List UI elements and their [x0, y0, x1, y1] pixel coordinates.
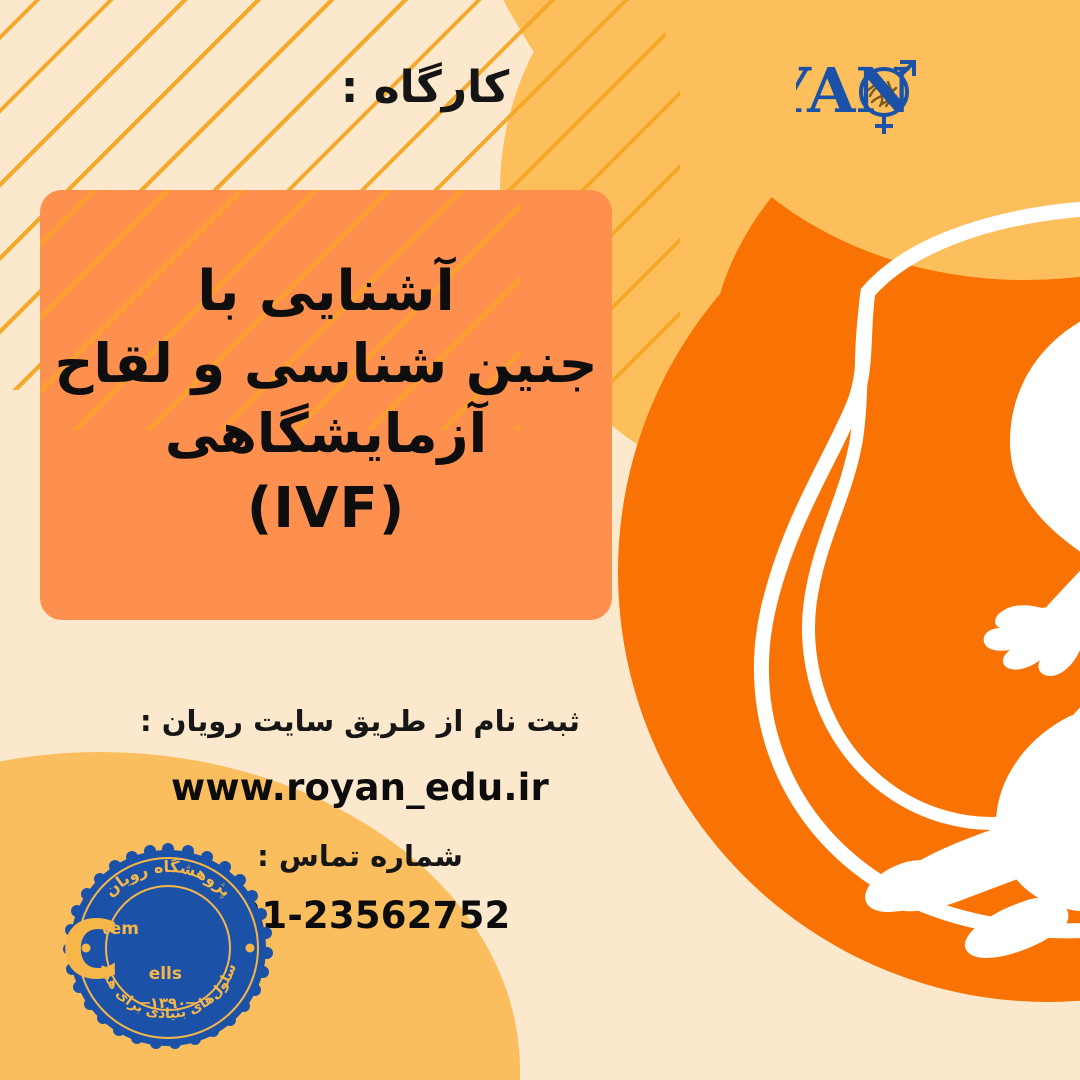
poster-canvas: کارگاه : R YAN [0, 0, 1080, 1080]
stem-cells-seal-logo: پژوهشگاه رویان سلول‌های بنیادی برای همه … [62, 842, 274, 1054]
seal-stem-text: tem [102, 919, 139, 939]
seal-initials: SC [62, 904, 120, 997]
title-line-3: آزمایشگاهی [54, 399, 597, 469]
svg-text:YAN: YAN [796, 54, 912, 127]
website-url[interactable]: www.royan_edu.ir [100, 766, 620, 809]
workshop-title-lines: آشنایی با جنین شناسی و لقاح آزمایشگاهی (… [54, 256, 597, 546]
seal-cells-text: ells [149, 964, 182, 984]
title-line-ivf: (IVF) [54, 473, 597, 546]
royan-logo: R YAN [796, 46, 1046, 136]
workshop-title-card: آشنایی با جنین شناسی و لقاح آزمایشگاهی (… [40, 190, 612, 620]
title-line-2: جنین شناسی و لقاح [54, 329, 597, 399]
title-line-1: آشنایی با [54, 256, 597, 329]
registration-label: ثبت نام از طریق سایت رویان : [100, 700, 620, 744]
seal-year: ۱۳۹۰ [150, 994, 187, 1012]
